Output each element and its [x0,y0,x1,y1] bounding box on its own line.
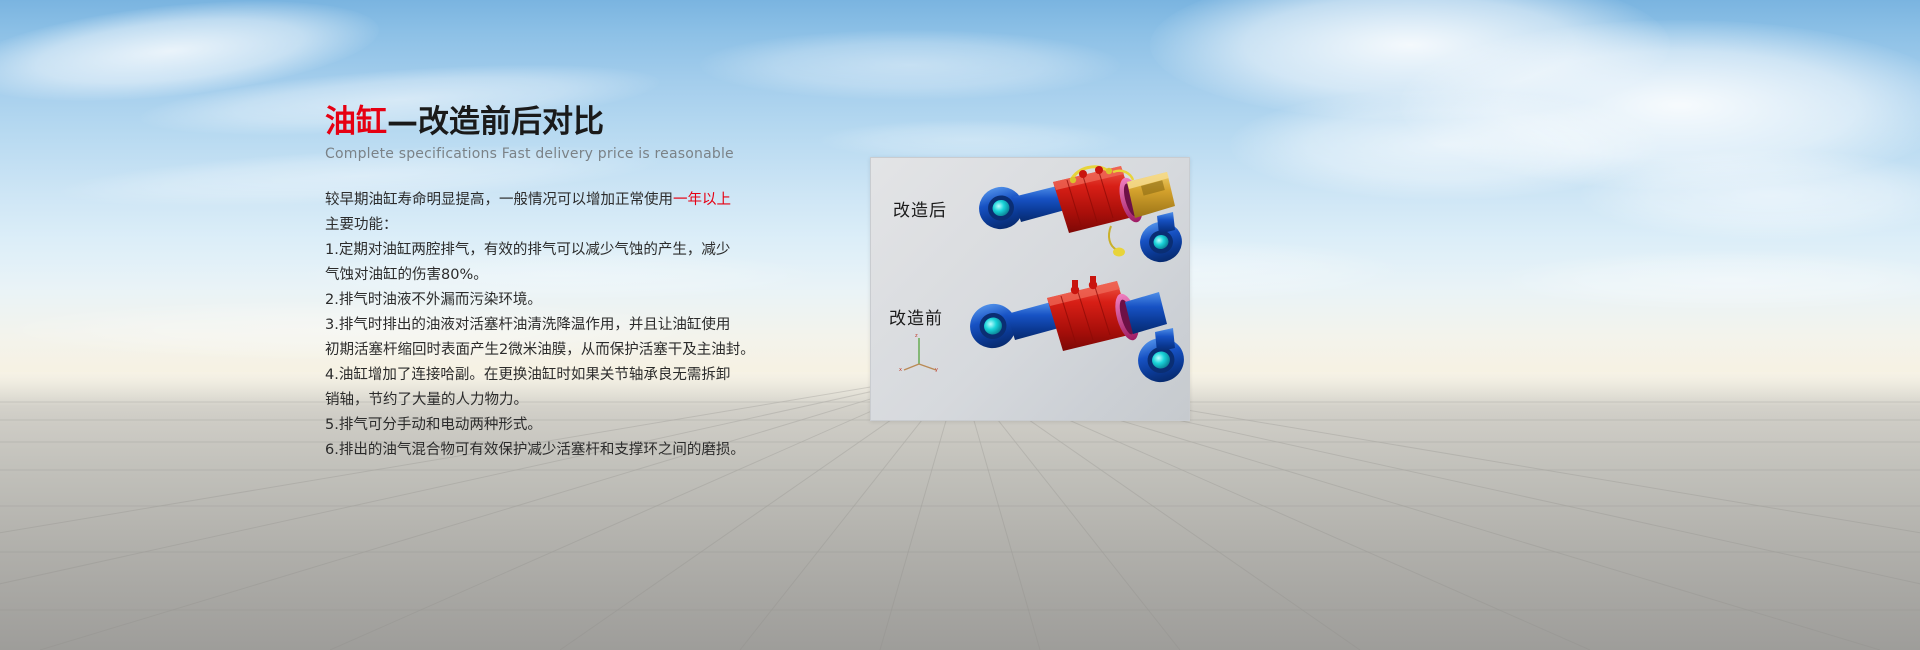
description-highlight: 一年以上 [673,192,731,208]
description-text: 销轴，节约了大量的人力物力。 [325,392,528,408]
svg-text:z: z [915,333,918,339]
cloud-puff-icon [1150,0,1670,120]
description-line: 3.排气时排出的油液对活塞杆油清洗降温作用，并且让油缸使用 [325,313,885,338]
page-title-rest: —改造前后对比 [387,104,604,140]
description-text: 2.排气时油液不外漏而污染环境。 [325,292,542,308]
hydraulic-cylinder-before-render [953,276,1189,408]
description-line: 6.排出的油气混合物可有效保护减少活塞杆和支撑环之间的磨损。 [325,438,885,463]
label-before-modification: 改造前 [889,304,943,329]
description-text: 4.油缸增加了连接哈副。在更换油缸时如果关节轴承良无需拆卸 [325,367,730,383]
comparison-image-panel: 改造后 改造前 z x y [870,157,1190,421]
cloud-streak-icon [1500,250,1920,310]
description-text: 5.排气可分手动和电动两种形式。 [325,417,542,433]
description-text: 气蚀对油缸的伤害80%。 [325,267,488,283]
svg-text:x: x [899,367,902,372]
cloud-puff-icon [1230,90,1660,200]
cloud-streak-icon [700,30,1120,100]
svg-text:y: y [935,367,938,372]
cloud-streak-icon [0,0,384,118]
description-text: 较早期油缸寿命明显提高，一般情况可以增加正常使用 [325,192,673,208]
description-line: 气蚀对油缸的伤害80%。 [325,263,885,288]
cloud-puff-icon [1580,150,1920,240]
description-text: 3.排气时排出的油液对活塞杆油清洗降温作用，并且让油缸使用 [325,317,730,333]
hydraulic-cylinder-after-render [961,164,1187,282]
description-line: 2.排气时油液不外漏而污染环境。 [325,288,885,313]
description-line: 4.油缸增加了连接哈副。在更换油缸时如果关节轴承良无需拆卸 [325,363,885,388]
page-subtitle: Complete specifications Fast delivery pr… [325,146,885,162]
cloud-puff-icon [1400,20,1920,190]
description-line: 初期活塞杆缩回时表面产生2微米油膜，从而保护活塞干及主油封。 [325,338,885,363]
product-banner: 油缸—改造前后对比 Complete specifications Fast d… [0,0,1920,650]
description-text: 6.排出的油气混合物可有效保护减少活塞杆和支撑环之间的磨损。 [325,442,745,458]
banner-text-block: 油缸—改造前后对比 Complete specifications Fast d… [325,104,885,463]
description-line: 1.定期对油缸两腔排气，有效的排气可以减少气蚀的产生，减少 [325,238,885,263]
xyz-axis-gizmo-icon: z x y [899,330,941,372]
description-text: 主要功能： [325,217,398,233]
description-text: 1.定期对油缸两腔排气，有效的排气可以减少气蚀的产生，减少 [325,242,730,258]
feature-description-list: 较早期油缸寿命明显提高，一般情况可以增加正常使用一年以上 主要功能： 1.定期对… [325,188,885,463]
description-line: 5.排气可分手动和电动两种形式。 [325,413,885,438]
description-line: 较早期油缸寿命明显提高，一般情况可以增加正常使用一年以上 [325,188,885,213]
page-title-accent: 油缸 [325,104,387,140]
label-after-modification: 改造后 [893,196,947,221]
description-text: 初期活塞杆缩回时表面产生2微米油膜，从而保护活塞干及主油封。 [325,342,755,358]
page-title: 油缸—改造前后对比 [325,104,885,141]
description-line: 销轴，节约了大量的人力物力。 [325,388,885,413]
description-line: 主要功能： [325,213,885,238]
